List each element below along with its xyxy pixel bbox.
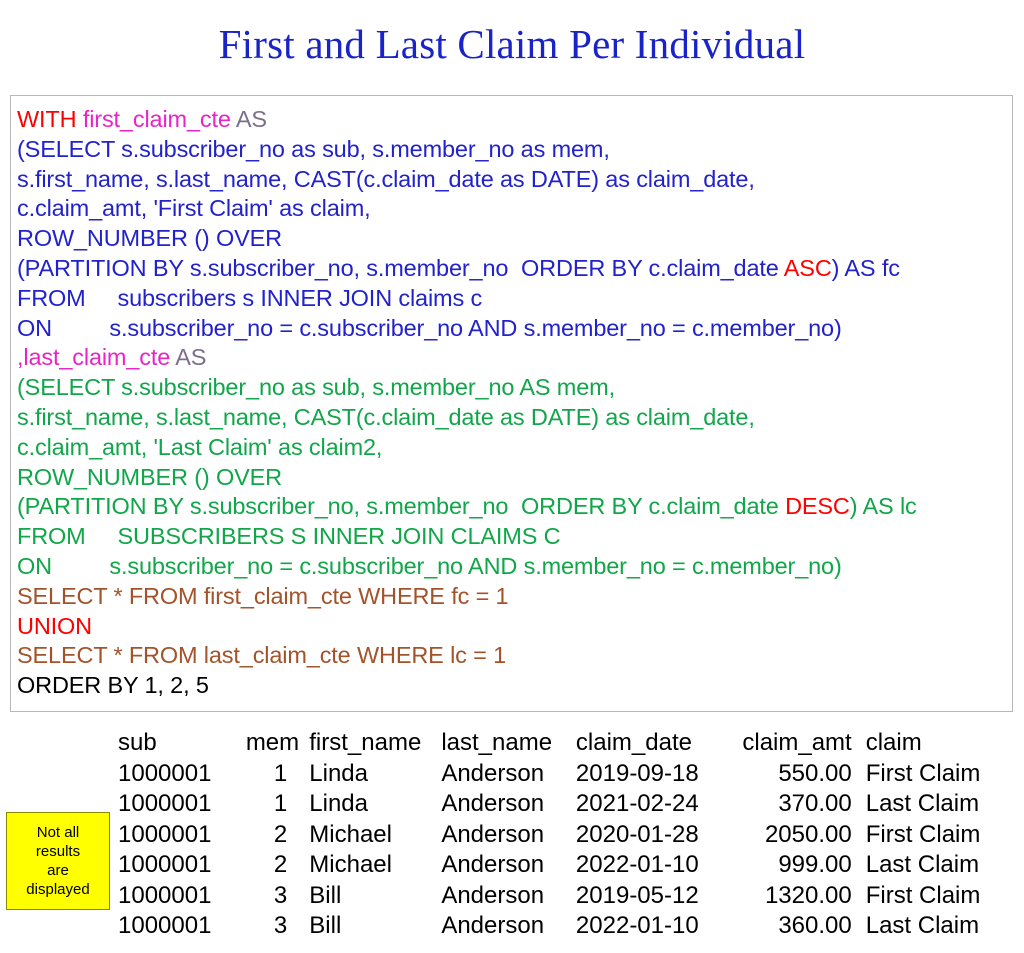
sql-token: ON s.subscriber_no = c.subscriber_no AND… [17, 315, 842, 341]
column-header-claim: claim [866, 728, 1008, 759]
page-title: First and Last Claim Per Individual [0, 0, 1024, 65]
cell-sub: 1000001 [118, 911, 246, 942]
cell-claim: Last Claim [866, 789, 1008, 820]
cell-first-name: Linda [309, 759, 441, 790]
sql-token: c.claim_amt, 'Last Claim' as claim2, [17, 434, 382, 460]
cell-mem: 1 [246, 789, 309, 820]
cell-sub: 1000001 [118, 759, 246, 790]
sql-line: ON s.subscriber_no = c.subscriber_no AND… [17, 314, 1012, 344]
cell-sub: 1000001 [118, 881, 246, 912]
cell-claim-date: 2021-02-24 [576, 789, 719, 820]
cell-claim-date: 2020-01-28 [576, 820, 719, 851]
sql-token: c.claim_amt, 'First Claim' as claim, [17, 195, 371, 221]
sql-token: FROM subscribers s INNER JOIN claims c [17, 285, 482, 311]
sql-line: FROM subscribers s INNER JOIN claims c [17, 284, 1012, 314]
sql-token: UNION [17, 613, 92, 639]
sql-line: ,last_claim_cte AS [17, 343, 1012, 373]
table-row: 10000013BillAnderson2019-05-121320.00Fir… [118, 881, 1008, 912]
sql-line: (PARTITION BY s.subscriber_no, s.member_… [17, 254, 1012, 284]
sql-token: AS [175, 344, 206, 370]
cell-last-name: Anderson [441, 850, 576, 881]
sql-line: ON s.subscriber_no = c.subscriber_no AND… [17, 552, 1012, 582]
cell-claim-amt: 550.00 [719, 759, 866, 790]
sql-token: FROM SUBSCRIBERS S INNER JOIN CLAIMS C [17, 523, 560, 549]
sql-token: ) AS fc [832, 255, 900, 281]
cell-claim: First Claim [866, 820, 1008, 851]
cell-last-name: Anderson [441, 759, 576, 790]
results-table-header: sub mem first_name last_name claim_date … [118, 728, 1008, 759]
cell-sub: 1000001 [118, 850, 246, 881]
sql-line: s.first_name, s.last_name, CAST(c.claim_… [17, 165, 1012, 195]
sql-token: ,last_claim_cte [17, 344, 175, 370]
cell-sub: 1000001 [118, 820, 246, 851]
sql-token: ON s.subscriber_no = c.subscriber_no AND… [17, 553, 842, 579]
sql-line: WITH first_claim_cte AS [17, 105, 1012, 135]
cell-claim-amt: 360.00 [719, 911, 866, 942]
cell-first-name: Michael [309, 820, 441, 851]
column-header-claim-amt: claim_amt [719, 728, 866, 759]
sql-line: (SELECT s.subscriber_no as sub, s.member… [17, 373, 1012, 403]
cell-claim-date: 2019-05-12 [576, 881, 719, 912]
table-row: 10000011LindaAnderson2021-02-24370.00Las… [118, 789, 1008, 820]
cell-first-name: Bill [309, 881, 441, 912]
table-row: 10000012MichaelAnderson2020-01-282050.00… [118, 820, 1008, 851]
sql-line: ROW_NUMBER () OVER [17, 224, 1012, 254]
cell-claim-date: 2022-01-10 [576, 911, 719, 942]
sql-token: WITH [17, 106, 83, 132]
sql-line: c.claim_amt, 'First Claim' as claim, [17, 194, 1012, 224]
sql-code-block: WITH first_claim_cte AS(SELECT s.subscri… [10, 95, 1013, 712]
cell-first-name: Bill [309, 911, 441, 942]
table-row: 10000011LindaAnderson2019-09-18550.00Fir… [118, 759, 1008, 790]
sql-token: SELECT * FROM first_claim_cte WHERE fc =… [17, 583, 508, 609]
column-header-mem: mem [246, 728, 309, 759]
sql-token: (SELECT s.subscriber_no as sub, s.member… [17, 136, 610, 162]
column-header-last-name: last_name [441, 728, 576, 759]
results-table-body: 10000011LindaAnderson2019-09-18550.00Fir… [118, 759, 1008, 942]
sql-line: UNION [17, 612, 1012, 642]
sql-line: s.first_name, s.last_name, CAST(c.claim_… [17, 403, 1012, 433]
cell-claim: Last Claim [866, 911, 1008, 942]
column-header-sub: sub [118, 728, 246, 759]
not-all-results-note: Not allresultsaredisplayed [6, 812, 110, 910]
sql-line: (PARTITION BY s.subscriber_no, s.member_… [17, 492, 1012, 522]
sql-token: first_claim_cte [83, 106, 236, 132]
sql-line: c.claim_amt, 'Last Claim' as claim2, [17, 433, 1012, 463]
sql-line: SELECT * FROM first_claim_cte WHERE fc =… [17, 582, 1012, 612]
sql-line: (SELECT s.subscriber_no as sub, s.member… [17, 135, 1012, 165]
cell-claim-amt: 2050.00 [719, 820, 866, 851]
cell-claim-amt: 370.00 [719, 789, 866, 820]
table-header-row: sub mem first_name last_name claim_date … [118, 728, 1008, 759]
cell-claim: First Claim [866, 881, 1008, 912]
sql-line: SELECT * FROM last_claim_cte WHERE lc = … [17, 641, 1012, 671]
cell-claim: Last Claim [866, 850, 1008, 881]
table-row: 10000012MichaelAnderson2022-01-10999.00L… [118, 850, 1008, 881]
cell-claim-amt: 1320.00 [719, 881, 866, 912]
cell-sub: 1000001 [118, 789, 246, 820]
cell-mem: 1 [246, 759, 309, 790]
sql-token: DESC [785, 493, 850, 519]
cell-mem: 2 [246, 850, 309, 881]
cell-first-name: Michael [309, 850, 441, 881]
sql-token: ROW_NUMBER () OVER [17, 225, 282, 251]
sql-token: ASC [784, 255, 832, 281]
note-line: displayed [26, 880, 89, 899]
results-table: sub mem first_name last_name claim_date … [118, 728, 1008, 942]
sql-token: ORDER BY 1, 2, 5 [17, 672, 209, 698]
sql-token: AS [236, 106, 267, 132]
sql-token: ROW_NUMBER () OVER [17, 464, 282, 490]
sql-token: s.first_name, s.last_name, CAST(c.claim_… [17, 404, 755, 430]
sql-token: (PARTITION BY s.subscriber_no, s.member_… [17, 255, 784, 281]
cell-claim-amt: 999.00 [719, 850, 866, 881]
cell-first-name: Linda [309, 789, 441, 820]
sql-token: SELECT * FROM last_claim_cte WHERE lc = … [17, 642, 506, 668]
sql-token: (PARTITION BY s.subscriber_no, s.member_… [17, 493, 785, 519]
cell-claim-date: 2022-01-10 [576, 850, 719, 881]
cell-mem: 2 [246, 820, 309, 851]
sql-token: s.first_name, s.last_name, CAST(c.claim_… [17, 166, 755, 192]
sql-line: ORDER BY 1, 2, 5 [17, 671, 1012, 701]
cell-last-name: Anderson [441, 789, 576, 820]
cell-mem: 3 [246, 881, 309, 912]
note-line: are [47, 861, 69, 880]
cell-claim-date: 2019-09-18 [576, 759, 719, 790]
note-line: Not all [37, 823, 80, 842]
sql-token: ) AS lc [850, 493, 917, 519]
cell-mem: 3 [246, 911, 309, 942]
cell-last-name: Anderson [441, 820, 576, 851]
cell-last-name: Anderson [441, 881, 576, 912]
sql-token: (SELECT s.subscriber_no as sub, s.member… [17, 374, 615, 400]
column-header-claim-date: claim_date [576, 728, 719, 759]
sql-line: ROW_NUMBER () OVER [17, 463, 1012, 493]
table-row: 10000013BillAnderson2022-01-10360.00Last… [118, 911, 1008, 942]
note-line: results [36, 842, 80, 861]
cell-claim: First Claim [866, 759, 1008, 790]
column-header-first-name: first_name [309, 728, 441, 759]
cell-last-name: Anderson [441, 911, 576, 942]
sql-line: FROM SUBSCRIBERS S INNER JOIN CLAIMS C [17, 522, 1012, 552]
